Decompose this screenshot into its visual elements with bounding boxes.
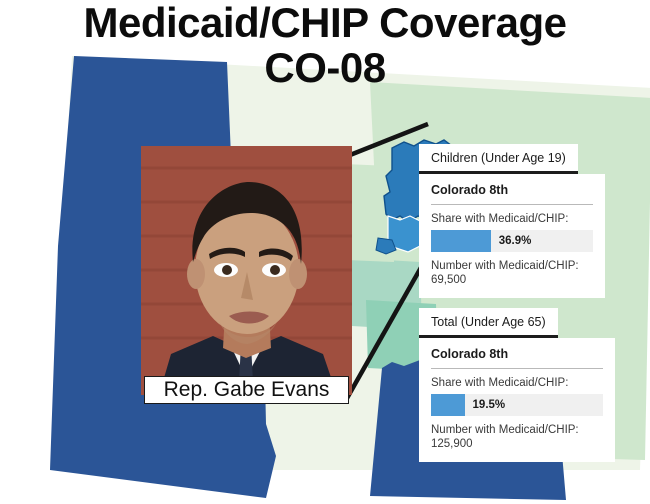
infographic-canvas: Medicaid/CHIP Coverage CO-08 bbox=[0, 0, 650, 504]
tooltip-children-share-label: Share with Medicaid/CHIP: bbox=[431, 213, 593, 225]
tooltip-children-divider bbox=[431, 204, 593, 205]
tooltip-children-header: Children (Under Age 19) bbox=[419, 144, 578, 174]
tooltip-children-subtitle: Colorado 8th bbox=[431, 183, 593, 197]
tooltip-total-divider bbox=[431, 368, 603, 369]
photo-caption: Rep. Gabe Evans bbox=[144, 376, 349, 404]
tooltip-children-share-value: 36.9% bbox=[499, 230, 532, 252]
representative-photo-card: Rep. Gabe Evans bbox=[141, 146, 352, 395]
map-region-green-ne bbox=[452, 90, 650, 152]
tooltip-total-share-label: Share with Medicaid/CHIP: bbox=[431, 377, 603, 389]
representative-portrait bbox=[141, 146, 352, 395]
tooltip-children-bar-track: 36.9% bbox=[431, 230, 593, 252]
tooltip-children-header-text: Children (Under Age 19) bbox=[431, 151, 566, 165]
tooltip-children: Children (Under Age 19) Colorado 8th Sha… bbox=[419, 144, 605, 298]
tooltip-total-header-text: Total (Under Age 65) bbox=[431, 315, 546, 329]
portrait-illustration bbox=[141, 146, 352, 395]
tooltip-total-body: Colorado 8th Share with Medicaid/CHIP: 1… bbox=[419, 338, 615, 462]
tooltip-total-share-value: 19.5% bbox=[473, 394, 506, 416]
tooltip-total-bar-track: 19.5% bbox=[431, 394, 603, 416]
tooltip-total: Total (Under Age 65) Colorado 8th Share … bbox=[419, 308, 615, 462]
tooltip-total-header: Total (Under Age 65) bbox=[419, 308, 558, 338]
tooltip-total-subtitle: Colorado 8th bbox=[431, 347, 603, 361]
tooltip-children-number: Number with Medicaid/CHIP: 69,500 bbox=[431, 259, 593, 288]
tooltip-children-bar-fill bbox=[431, 230, 491, 252]
tooltip-total-number: Number with Medicaid/CHIP: 125,900 bbox=[431, 423, 603, 452]
photo-caption-text: Rep. Gabe Evans bbox=[164, 378, 330, 402]
tooltip-total-number-label: Number with Medicaid/CHIP: bbox=[431, 424, 579, 436]
tooltip-children-body: Colorado 8th Share with Medicaid/CHIP: 3… bbox=[419, 174, 605, 298]
tooltip-total-number-value: 125,900 bbox=[431, 438, 473, 450]
tooltip-total-bar-fill bbox=[431, 394, 465, 416]
